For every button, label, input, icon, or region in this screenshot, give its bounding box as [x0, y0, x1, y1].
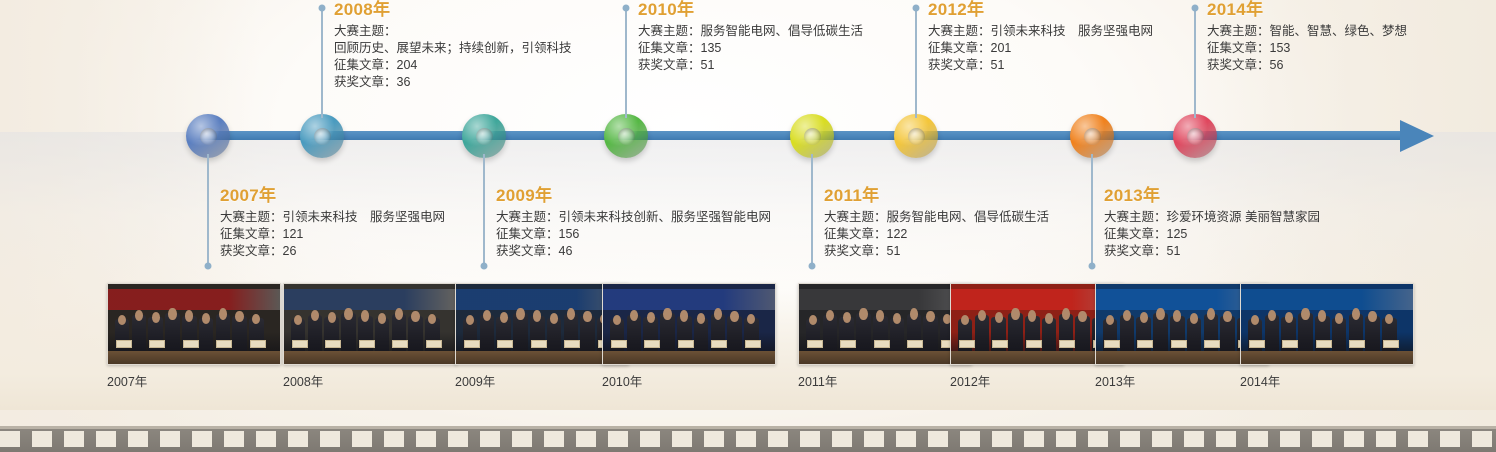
timeline-connector-line [915, 8, 917, 118]
photo-certificate [216, 340, 232, 348]
timeline-connector-line [1091, 154, 1093, 266]
photo-table [603, 351, 775, 364]
node-center-hole [804, 128, 821, 145]
card-awarded-count: 获奖文章：51 [1104, 243, 1320, 260]
timeline-connector-line [625, 8, 627, 118]
node-center-hole [908, 128, 925, 145]
photo-certificate [745, 340, 761, 348]
photo-certificate [711, 340, 727, 348]
photo-backdrop-banner [108, 289, 280, 310]
node-center-hole [200, 128, 217, 145]
gallery-photo-caption: 2008年 [283, 371, 323, 390]
timeline-node-2011[interactable] [790, 114, 834, 158]
gallery-photo-caption: 2012年 [950, 371, 990, 390]
photo-certificate [564, 340, 580, 348]
card-theme-line: 大赛主题：服务智能电网、倡导低碳生活 [638, 23, 863, 40]
photo-table [1241, 351, 1413, 364]
timeline-connector-dot [319, 5, 326, 12]
photo-certificate [1204, 340, 1220, 348]
photo-scene [108, 284, 280, 364]
card-theme-line: 大赛主题：服务智能电网、倡导低碳生活 [824, 209, 1049, 226]
photo-certificate [1282, 340, 1298, 348]
card-submitted-count: 征集文章：201 [928, 40, 1153, 57]
photo-table [284, 351, 456, 364]
timeline-node-2012[interactable] [894, 114, 938, 158]
card-year: 2013年 [1104, 186, 1320, 206]
card-theme-line: 大赛主题：智能、智慧、绿色、梦想 [1207, 23, 1407, 40]
card-awarded-count: 获奖文章：51 [638, 57, 863, 74]
photo-certificate [1059, 340, 1075, 348]
card-submitted-count: 征集文章：204 [334, 57, 572, 74]
node-center-hole [476, 128, 493, 145]
card-year: 2008年 [334, 0, 572, 20]
timeline-connector-line [1194, 8, 1196, 118]
card-year: 2012年 [928, 0, 1153, 20]
photo-certificate [1316, 340, 1332, 348]
card-submitted-count: 征集文章：135 [638, 40, 863, 57]
timeline-node-2009[interactable] [462, 114, 506, 158]
arrow-right-icon [1400, 120, 1434, 152]
card-awarded-count: 获奖文章：36 [334, 74, 572, 91]
photo-table [799, 351, 971, 364]
film-strip-decoration [0, 426, 1496, 452]
card-theme-line: 大赛主题： [334, 23, 572, 40]
timeline-connector-dot [913, 5, 920, 12]
photo-certificate [359, 340, 375, 348]
card-year: 2009年 [496, 186, 771, 206]
photo-scene [799, 284, 971, 364]
gallery-photo[interactable] [798, 283, 972, 365]
photo-backdrop-banner [799, 289, 971, 310]
photo-certificate [874, 340, 890, 348]
timeline-connector-line [483, 154, 485, 266]
photo-certificate [1249, 340, 1265, 348]
photo-certificate [1171, 340, 1187, 348]
timeline-card-2011: 2011年大赛主题：服务智能电网、倡导低碳生活征集文章：122获奖文章：51 [824, 186, 1049, 260]
card-theme-line: 大赛主题：引领未来科技 服务坚强电网 [220, 209, 445, 226]
timeline-card-2013: 2013年大赛主题：珍爱环境资源 美丽智慧家园征集文章：125获奖文章：51 [1104, 186, 1320, 260]
timeline-node-2008[interactable] [300, 114, 344, 158]
gallery-photo[interactable] [602, 283, 776, 365]
photo-certificate [807, 340, 823, 348]
photo-certificate [426, 340, 442, 348]
photo-certificate [292, 340, 308, 348]
card-theme-line: 大赛主题：引领未来科技 服务坚强电网 [928, 23, 1153, 40]
timeline-connector-dot [1089, 263, 1096, 270]
card-submitted-count: 征集文章：156 [496, 226, 771, 243]
photo-certificate [1383, 340, 1399, 348]
photo-certificate [325, 340, 341, 348]
photo-certificate [183, 340, 199, 348]
gallery-photo-caption: 2013年 [1095, 371, 1135, 390]
timeline-node-2014[interactable] [1173, 114, 1217, 158]
timeline-card-2014: 2014年大赛主题：智能、智慧、绿色、梦想征集文章：153获奖文章：56 [1207, 0, 1407, 74]
photo-certificate [959, 340, 975, 348]
card-submitted-count: 征集文章：125 [1104, 226, 1320, 243]
card-theme-line: 大赛主题：引领未来科技创新、服务坚强智能电网 [496, 209, 771, 226]
timeline-connector-line [207, 154, 209, 266]
card-awarded-count: 获奖文章：51 [824, 243, 1049, 260]
gallery-photo-caption: 2010年 [602, 371, 642, 390]
timeline-card-2009: 2009年大赛主题：引领未来科技创新、服务坚强智能电网征集文章：156获奖文章：… [496, 186, 771, 260]
timeline-node-2007[interactable] [186, 114, 230, 158]
film-strip-perforations [0, 431, 1496, 447]
node-center-hole [618, 128, 635, 145]
photo-backdrop-banner [603, 289, 775, 310]
node-center-hole [1084, 128, 1101, 145]
timeline-connector-line [811, 154, 813, 266]
timeline-connector-line [321, 8, 323, 118]
photo-certificate [116, 340, 132, 348]
photo-certificate [1349, 340, 1365, 348]
photo-certificate [992, 340, 1008, 348]
photo-scene [284, 284, 456, 364]
card-year: 2011年 [824, 186, 1049, 206]
photo-certificate [497, 340, 513, 348]
gallery-photo-caption: 2009年 [455, 371, 495, 390]
photo-scene [1241, 284, 1413, 364]
photo-backdrop-banner [284, 289, 456, 310]
card-theme-text: 回顾历史、展望未来；持续创新，引领科技 [334, 40, 572, 57]
gallery-photo[interactable] [283, 283, 457, 365]
timeline-connector-dot [623, 5, 630, 12]
node-center-hole [1187, 128, 1204, 145]
card-year: 2010年 [638, 0, 863, 20]
card-theme-line: 大赛主题：珍爱环境资源 美丽智慧家园 [1104, 209, 1320, 226]
timeline-connector-dot [1192, 5, 1199, 12]
gallery-photo[interactable] [107, 283, 281, 365]
photo-backdrop-banner [1241, 289, 1413, 310]
timeline-track: 2007年大赛主题：引领未来科技 服务坚强电网征集文章：121获奖文章：2620… [0, 0, 1496, 270]
photo-certificate [611, 340, 627, 348]
photo-certificate [840, 340, 856, 348]
photo-certificate [678, 340, 694, 348]
timeline-card-2012: 2012年大赛主题：引领未来科技 服务坚强电网征集文章：201获奖文章：51 [928, 0, 1153, 74]
photo-certificate [1026, 340, 1042, 348]
card-awarded-count: 获奖文章：26 [220, 243, 445, 260]
card-year: 2007年 [220, 186, 445, 206]
photo-certificate [1137, 340, 1153, 348]
card-year: 2014年 [1207, 0, 1407, 20]
photo-certificate [907, 340, 923, 348]
gallery-photo[interactable] [1240, 283, 1414, 365]
photo-certificate [644, 340, 660, 348]
card-awarded-count: 获奖文章：46 [496, 243, 771, 260]
photo-certificate [464, 340, 480, 348]
card-submitted-count: 征集文章：153 [1207, 40, 1407, 57]
card-awarded-count: 获奖文章：51 [928, 57, 1153, 74]
card-submitted-count: 征集文章：122 [824, 226, 1049, 243]
timeline-node-2010[interactable] [604, 114, 648, 158]
node-center-hole [314, 128, 331, 145]
photo-certificate [531, 340, 547, 348]
timeline-connector-dot [481, 263, 488, 270]
card-submitted-count: 征集文章：121 [220, 226, 445, 243]
gallery-photo-caption: 2014年 [1240, 371, 1280, 390]
photo-certificate [250, 340, 266, 348]
timeline-card-2007: 2007年大赛主题：引领未来科技 服务坚强电网征集文章：121获奖文章：26 [220, 186, 445, 260]
timeline-card-2010: 2010年大赛主题：服务智能电网、倡导低碳生活征集文章：135获奖文章：51 [638, 0, 863, 74]
gallery-photo-caption: 2007年 [107, 371, 147, 390]
photo-certificate [1104, 340, 1120, 348]
card-awarded-count: 获奖文章：56 [1207, 57, 1407, 74]
timeline-connector-dot [809, 263, 816, 270]
photo-scene [603, 284, 775, 364]
photo-table [108, 351, 280, 364]
timeline-card-2008: 2008年大赛主题：回顾历史、展望未来；持续创新，引领科技征集文章：204获奖文… [334, 0, 572, 91]
photo-gallery: 2007年2008年2009年2010年2011年2012年2013年2014年 [0, 283, 1496, 403]
photo-certificate [149, 340, 165, 348]
film-strip-edge [0, 426, 1496, 429]
timeline-infographic: 2007年大赛主题：引领未来科技 服务坚强电网征集文章：121获奖文章：2620… [0, 0, 1496, 452]
gallery-photo-caption: 2011年 [798, 371, 837, 390]
photo-certificate [392, 340, 408, 348]
timeline-node-2013[interactable] [1070, 114, 1114, 158]
timeline-connector-dot [205, 263, 212, 270]
